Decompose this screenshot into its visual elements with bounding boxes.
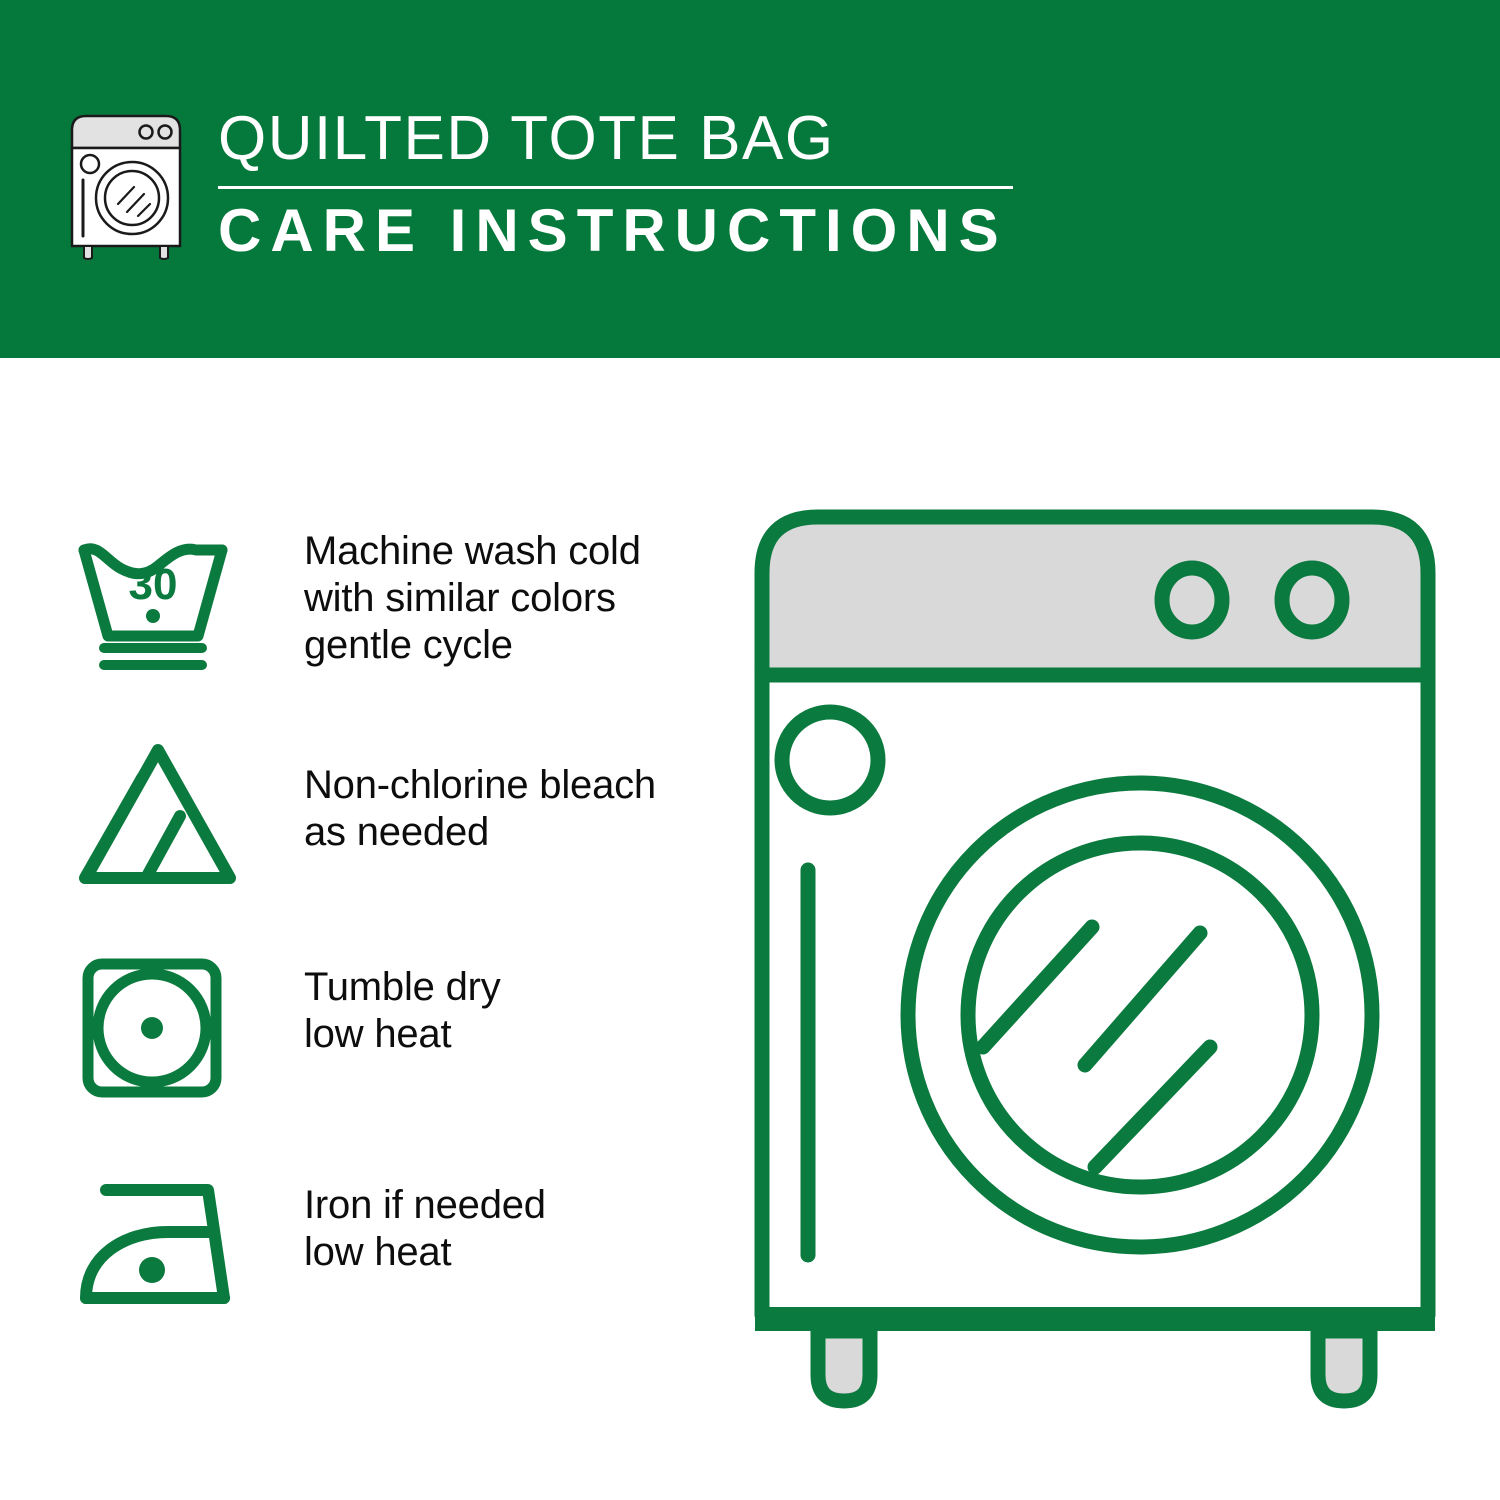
control-panel	[762, 517, 1428, 675]
instruction-line: low heat	[304, 1011, 712, 1058]
instruction-row-wash: 30 Machine wash cold with similar colors…	[72, 506, 712, 724]
wash-tub-30-icon: 30	[72, 506, 242, 674]
washing-machine-illustration	[740, 495, 1450, 1425]
page-title: QUILTED TOTE BAG	[218, 104, 1018, 174]
instruction-row-tumble-dry: Tumble dry low heat	[72, 942, 712, 1160]
instruction-line: Machine wash cold	[304, 528, 712, 575]
washing-machine-logo-icon	[62, 108, 190, 260]
instructions-list: 30 Machine wash cold with similar colors…	[72, 506, 712, 1378]
instruction-line: Tumble dry	[304, 964, 712, 1011]
instruction-text-wash: Machine wash cold with similar colors ge…	[242, 506, 712, 669]
page-subtitle: CARE INSTRUCTIONS	[218, 195, 1018, 267]
leg-left	[818, 1331, 870, 1401]
instruction-line: as needed	[304, 809, 712, 856]
instruction-row-bleach: Non-chlorine bleach as needed	[72, 724, 712, 942]
instruction-text-tumble-dry: Tumble dry low heat	[242, 942, 712, 1058]
header-text-block: QUILTED TOTE BAG CARE INSTRUCTIONS	[218, 104, 1018, 267]
leg-right	[1318, 1331, 1370, 1401]
instruction-row-iron: Iron if needed low heat	[72, 1160, 712, 1378]
machine-body	[762, 675, 1428, 1315]
instruction-text-bleach: Non-chlorine bleach as needed	[242, 724, 712, 856]
header-band: QUILTED TOTE BAG CARE INSTRUCTIONS	[0, 0, 1500, 358]
tumble-dry-icon	[72, 942, 242, 1102]
instruction-line: Iron if needed	[304, 1182, 712, 1229]
instruction-line: low heat	[304, 1229, 712, 1276]
bleach-triangle-icon	[72, 724, 242, 888]
care-instructions-page: QUILTED TOTE BAG CARE INSTRUCTIONS 30	[0, 0, 1500, 1500]
instruction-text-iron: Iron if needed low heat	[242, 1160, 712, 1276]
wash-temperature-label: 30	[129, 560, 178, 609]
instruction-line: with similar colors	[304, 575, 712, 622]
instruction-line: gentle cycle	[304, 622, 712, 669]
title-divider	[218, 186, 1013, 189]
iron-icon	[72, 1160, 242, 1324]
instruction-line: Non-chlorine bleach	[304, 762, 712, 809]
